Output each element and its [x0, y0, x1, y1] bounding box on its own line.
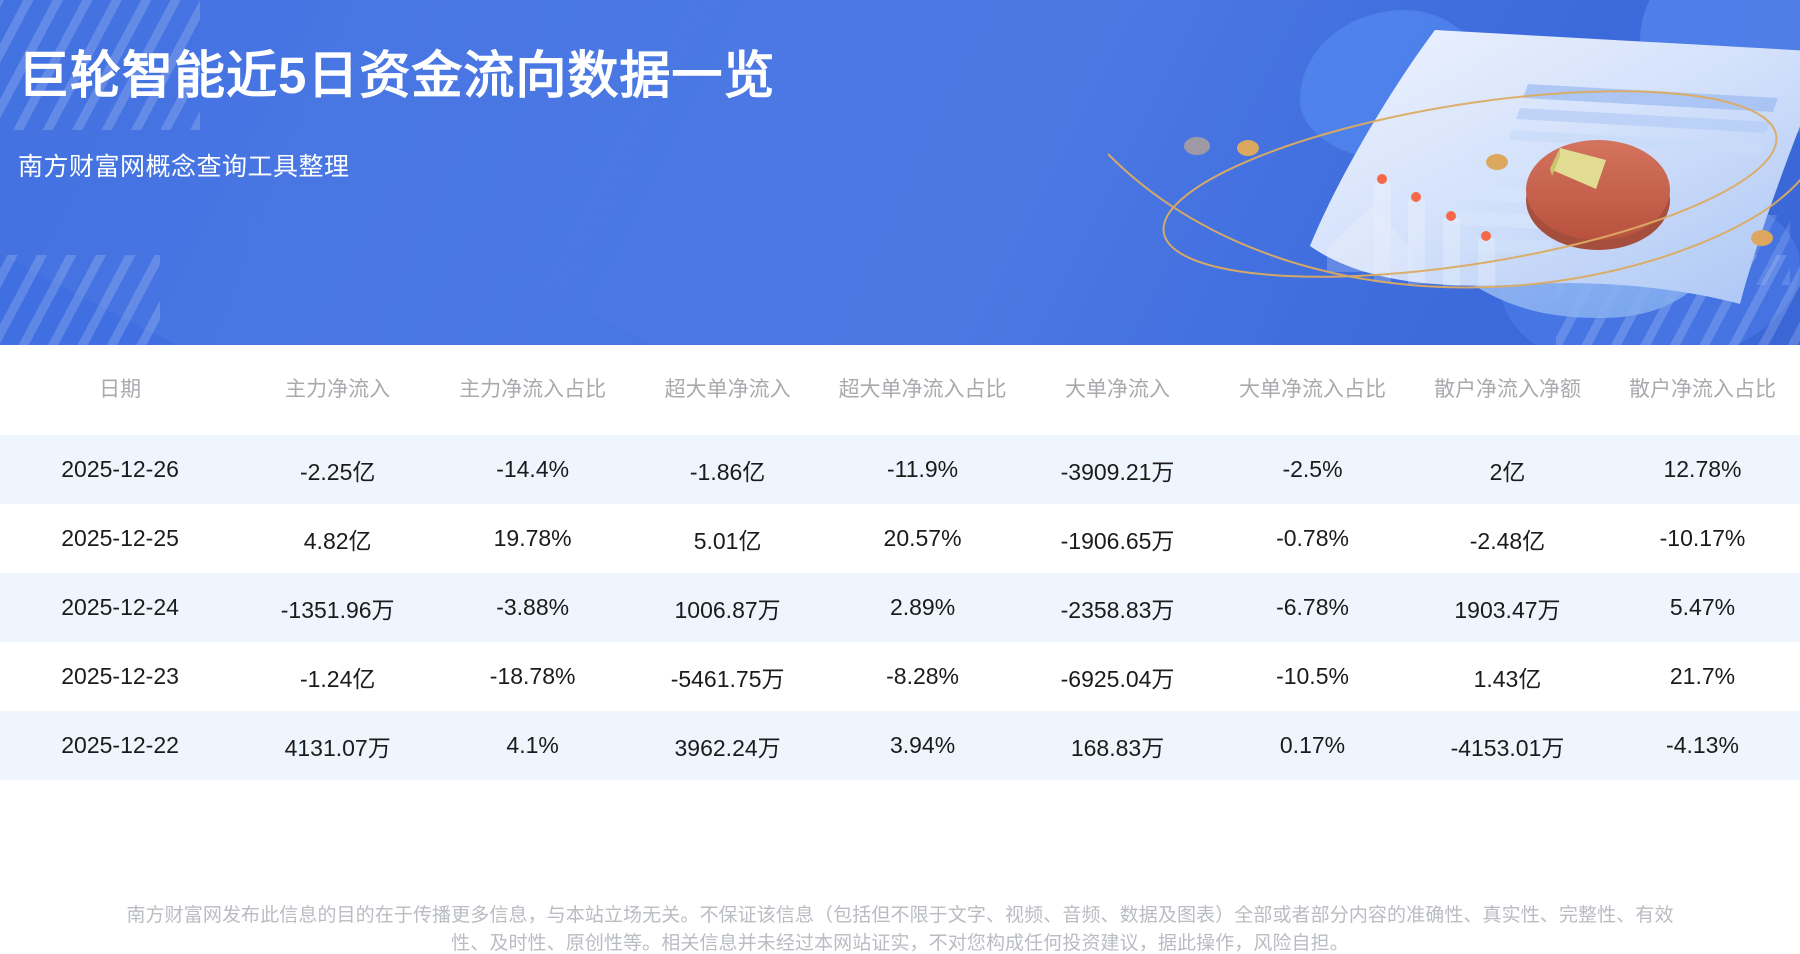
cell-large-net-inflow-ratio: -0.78%	[1215, 504, 1410, 573]
cell-retail-net-inflow-ratio: -10.17%	[1605, 504, 1800, 573]
cell-main-net-inflow-ratio: -18.78%	[435, 642, 630, 711]
cell-retail-net-inflow-ratio: 21.7%	[1605, 642, 1800, 711]
cell-large-net-inflow-ratio: -6.78%	[1215, 573, 1410, 642]
cell-large-net-inflow-ratio: -10.5%	[1215, 642, 1410, 711]
table-header: 日期 主力净流入 主力净流入占比 超大单净流入 超大单净流入占比 大单净流入 大…	[0, 345, 1800, 435]
cell-retail-net-inflow-amount: 2亿	[1410, 435, 1605, 504]
cell-super-large-net-inflow: 1006.87万	[630, 573, 825, 642]
cell-main-net-inflow: -1.24亿	[240, 642, 435, 711]
cell-super-large-net-inflow: 5.01亿	[630, 504, 825, 573]
cell-retail-net-inflow-ratio: 5.47%	[1605, 573, 1800, 642]
cell-main-net-inflow: -1351.96万	[240, 573, 435, 642]
cell-super-large-net-inflow: -1.86亿	[630, 435, 825, 504]
cell-retail-net-inflow-amount: -2.48亿	[1410, 504, 1605, 573]
pie-chart-icon	[1526, 140, 1670, 250]
cell-large-net-inflow: 168.83万	[1020, 711, 1215, 780]
cell-date: 2025-12-25	[0, 504, 240, 573]
table-row: 2025-12-26 -2.25亿 -14.4% -1.86亿 -11.9% -…	[0, 435, 1800, 504]
disclaimer-line-2: 性、及时性、原创性等。相关信息并未经过本网站证实，不对您构成任何投资建议，据此操…	[0, 930, 1800, 954]
cell-large-net-inflow-ratio: -2.5%	[1215, 435, 1410, 504]
cell-super-large-net-inflow-ratio: -11.9%	[825, 435, 1020, 504]
fund-flow-table: 日期 主力净流入 主力净流入占比 超大单净流入 超大单净流入占比 大单净流入 大…	[0, 345, 1800, 780]
disclaimer-footer: 南方财富网发布此信息的目的在于传播更多信息，与本站立场无关。不保证该信息（包括但…	[0, 900, 1800, 954]
report-document-illustration-icon	[1040, 0, 1800, 345]
column-header-large-net-inflow-ratio: 大单净流入占比	[1215, 345, 1410, 435]
page-subtitle: 南方财富网概念查询工具整理	[18, 147, 775, 183]
cell-super-large-net-inflow: 3962.24万	[630, 711, 825, 780]
cell-super-large-net-inflow-ratio: 2.89%	[825, 573, 1020, 642]
header-banner: 巨轮智能近5日资金流向数据一览 南方财富网概念查询工具整理	[0, 0, 1800, 345]
table-header-row: 日期 主力净流入 主力净流入占比 超大单净流入 超大单净流入占比 大单净流入 大…	[0, 345, 1800, 435]
table-row: 2025-12-25 4.82亿 19.78% 5.01亿 20.57% -19…	[0, 504, 1800, 573]
table-row: 2025-12-23 -1.24亿 -18.78% -5461.75万 -8.2…	[0, 642, 1800, 711]
table-row: 2025-12-24 -1351.96万 -3.88% 1006.87万 2.8…	[0, 573, 1800, 642]
banner-text-block: 巨轮智能近5日资金流向数据一览 南方财富网概念查询工具整理	[18, 48, 775, 183]
column-header-retail-net-inflow-amount: 散户净流入净额	[1410, 345, 1605, 435]
cell-large-net-inflow: -6925.04万	[1020, 642, 1215, 711]
cell-main-net-inflow-ratio: 19.78%	[435, 504, 630, 573]
cell-retail-net-inflow-ratio: -4.13%	[1605, 711, 1800, 780]
cell-super-large-net-inflow: -5461.75万	[630, 642, 825, 711]
cell-main-net-inflow: -2.25亿	[240, 435, 435, 504]
data-table-section: 南方财富网 Southmoney.com 日期 主力净流入 主力净流入占比 超大…	[0, 345, 1800, 900]
cell-super-large-net-inflow-ratio: 3.94%	[825, 711, 1020, 780]
cell-date: 2025-12-24	[0, 573, 240, 642]
cell-retail-net-inflow-amount: 1.43亿	[1410, 642, 1605, 711]
cell-date: 2025-12-26	[0, 435, 240, 504]
cell-super-large-net-inflow-ratio: -8.28%	[825, 642, 1020, 711]
cell-date: 2025-12-23	[0, 642, 240, 711]
cell-large-net-inflow: -2358.83万	[1020, 573, 1215, 642]
cell-main-net-inflow-ratio: -14.4%	[435, 435, 630, 504]
cell-super-large-net-inflow-ratio: 20.57%	[825, 504, 1020, 573]
table-body: 2025-12-26 -2.25亿 -14.4% -1.86亿 -11.9% -…	[0, 435, 1800, 780]
cell-main-net-inflow-ratio: -3.88%	[435, 573, 630, 642]
page-title: 巨轮智能近5日资金流向数据一览	[18, 48, 775, 104]
cell-large-net-inflow-ratio: 0.17%	[1215, 711, 1410, 780]
column-header-super-large-net-inflow-ratio: 超大单净流入占比	[825, 345, 1020, 435]
disclaimer-line-1: 南方财富网发布此信息的目的在于传播更多信息，与本站立场无关。不保证该信息（包括但…	[0, 902, 1800, 930]
cell-retail-net-inflow-amount: 1903.47万	[1410, 573, 1605, 642]
decorative-stripes-icon	[0, 255, 160, 345]
cell-large-net-inflow: -1906.65万	[1020, 504, 1215, 573]
cell-large-net-inflow: -3909.21万	[1020, 435, 1215, 504]
cell-retail-net-inflow-amount: -4153.01万	[1410, 711, 1605, 780]
column-header-main-net-inflow-ratio: 主力净流入占比	[435, 345, 630, 435]
cell-main-net-inflow-ratio: 4.1%	[435, 711, 630, 780]
column-header-large-net-inflow: 大单净流入	[1020, 345, 1215, 435]
cell-date: 2025-12-22	[0, 711, 240, 780]
cell-main-net-inflow: 4.82亿	[240, 504, 435, 573]
cell-retail-net-inflow-ratio: 12.78%	[1605, 435, 1800, 504]
column-header-date: 日期	[0, 345, 240, 435]
cell-main-net-inflow: 4131.07万	[240, 711, 435, 780]
table-row: 2025-12-22 4131.07万 4.1% 3962.24万 3.94% …	[0, 711, 1800, 780]
column-header-main-net-inflow: 主力净流入	[240, 345, 435, 435]
column-header-super-large-net-inflow: 超大单净流入	[630, 345, 825, 435]
column-header-retail-net-inflow-ratio: 散户净流入占比	[1605, 345, 1800, 435]
